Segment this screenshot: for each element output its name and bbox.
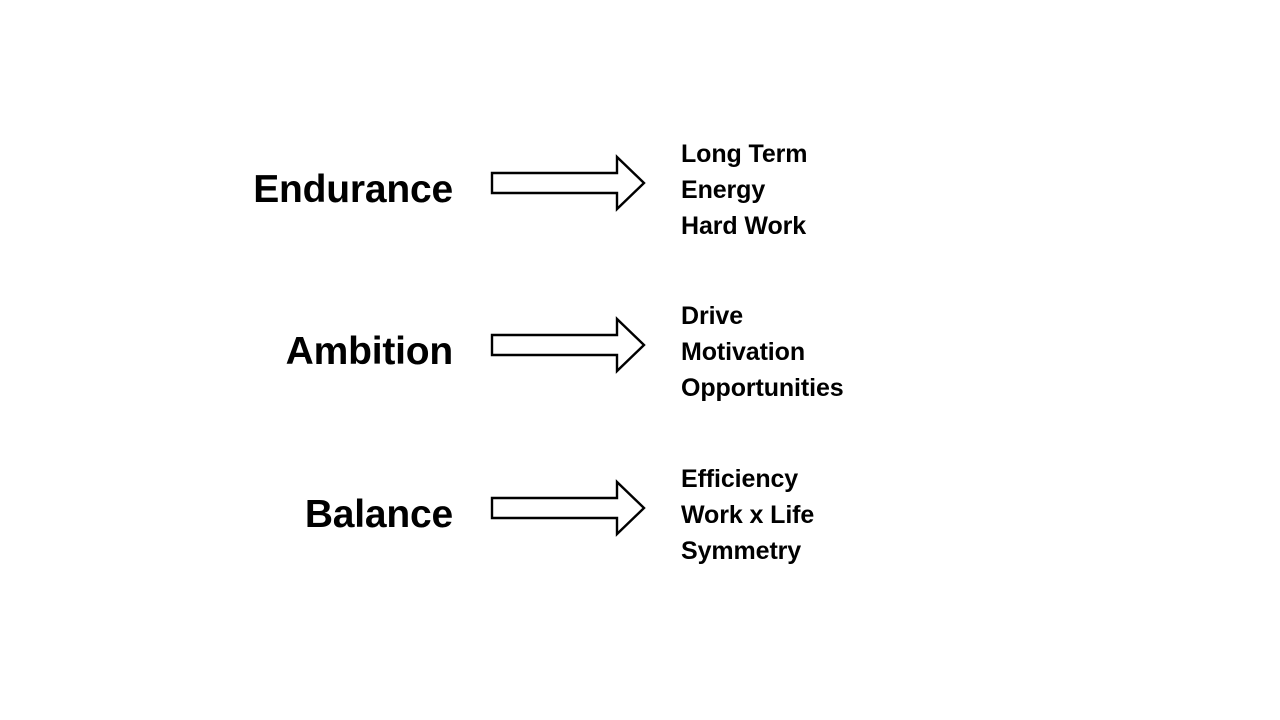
detail-item: Efficiency [681,461,1151,497]
slide-canvas: Endurance Long Term Energy Hard Work Amb… [0,0,1280,720]
detail-list: Efficiency Work x Life Symmetry [681,450,1151,580]
concept-label-balance: Balance [140,450,453,580]
block-arrow-right-icon [490,155,646,211]
detail-item: Drive [681,298,1151,334]
block-arrow-right-icon [490,317,646,373]
detail-item: Work x Life [681,497,1151,533]
detail-item: Symmetry [681,533,1151,569]
detail-item: Energy [681,172,1151,208]
detail-item: Motivation [681,334,1151,370]
concept-label-ambition: Ambition [140,287,453,417]
detail-item: Opportunities [681,370,1151,406]
diagram-row: Endurance Long Term Energy Hard Work [0,125,1280,255]
block-arrow-right-icon [490,480,646,536]
detail-list: Long Term Energy Hard Work [681,125,1151,255]
diagram-row: Ambition Drive Motivation Opportunities [0,287,1280,417]
concept-label-endurance: Endurance [140,125,453,255]
detail-item: Long Term [681,136,1151,172]
diagram-row: Balance Efficiency Work x Life Symmetry [0,450,1280,580]
detail-list: Drive Motivation Opportunities [681,287,1151,417]
detail-item: Hard Work [681,208,1151,244]
